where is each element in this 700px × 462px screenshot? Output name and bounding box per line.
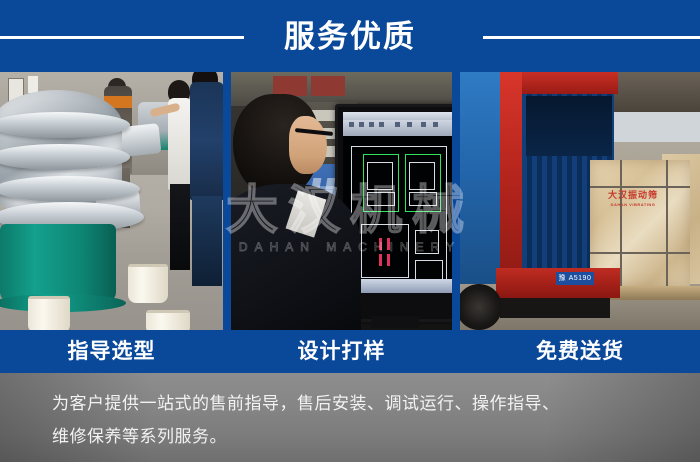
crate-logo: 大汉振动筛 DAHAN VIBRATING SCREEN	[602, 190, 664, 206]
footer-line-1: 为客户提供一站式的售前指导，售后安装、调试运行、操作指导、	[52, 387, 672, 420]
truck-loading-crates-photo: 大汉振动筛 DAHAN VIBRATING SCREEN 豫 A5190	[460, 72, 700, 330]
footer-description: 为客户提供一站式的售前指导，售后安装、调试运行、操作指导、 维修保养等系列服务。	[0, 373, 700, 462]
panel-guidance[interactable]: 指导选型	[0, 72, 223, 373]
caption-delivery: 免费送货	[460, 330, 700, 373]
panel-design[interactable]: PHILIPS 设计打样	[231, 72, 452, 373]
panel-delivery[interactable]: 大汉振动筛 DAHAN VIBRATING SCREEN 豫 A5190 免费送…	[460, 72, 700, 373]
cad-drawing-area	[349, 142, 449, 277]
crate-logo-cn: 大汉振动筛	[608, 190, 658, 200]
banner-header: 服务优质	[0, 0, 700, 72]
footer-text: 为客户提供一站式的售前指导，售后安装、调试运行、操作指导、 维修保养等系列服务。	[52, 387, 672, 453]
caption-guidance: 指导选型	[0, 330, 223, 373]
cad-designer-monitor-photo: PHILIPS	[231, 72, 452, 330]
license-plate: 豫 A5190	[556, 272, 594, 285]
service-quality-banner: 服务优质	[0, 0, 700, 462]
crate-logo-en: DAHAN VIBRATING SCREEN	[602, 200, 664, 206]
footer-line-2: 维修保养等系列服务。	[52, 420, 672, 453]
page-title: 服务优质	[0, 18, 700, 56]
panel-row: 指导选型	[0, 72, 700, 373]
caption-design: 设计打样	[231, 330, 452, 373]
workshop-sieve-consultation-photo	[0, 72, 223, 330]
